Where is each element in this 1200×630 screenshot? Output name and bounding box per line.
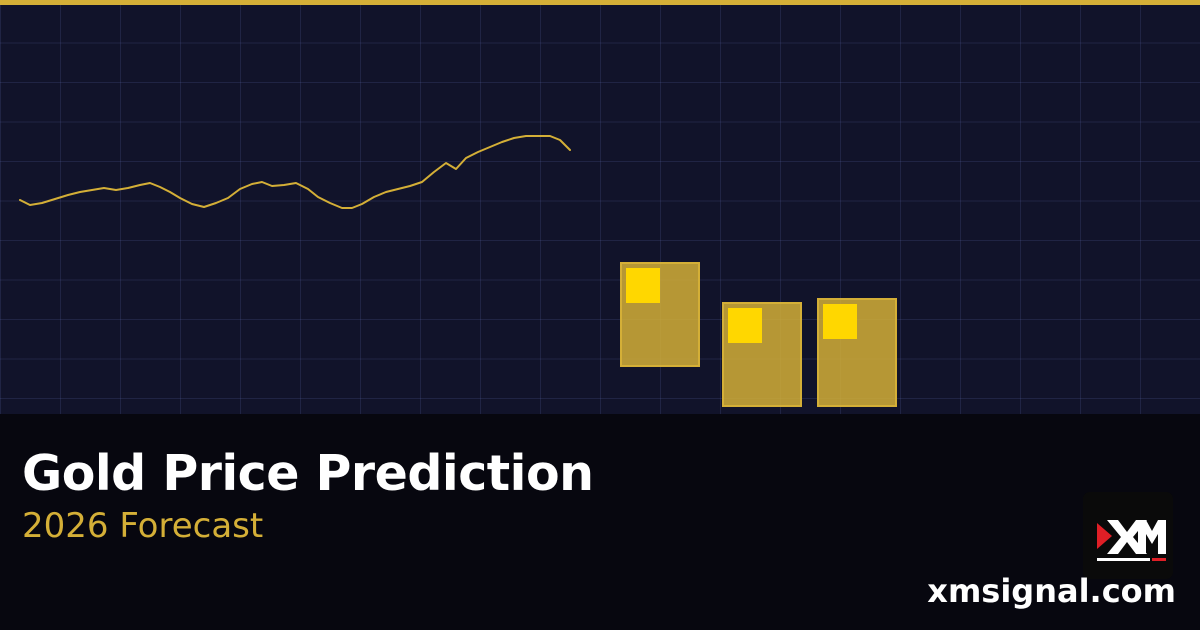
page-subtitle: 2026 Forecast <box>22 506 263 546</box>
forecast-bar-1-highlight <box>626 268 660 303</box>
forecast-bar-2-highlight <box>728 308 762 343</box>
caption-panel: Gold Price Prediction 2026 Forecast xmsi… <box>0 414 1200 630</box>
brand-domain: xmsignal.com <box>927 572 1176 610</box>
logo-underline <box>1097 558 1150 561</box>
social-preview-card: Gold Price Prediction 2026 Forecast xmsi… <box>0 0 1200 630</box>
xm-logo <box>1083 492 1173 579</box>
page-title: Gold Price Prediction <box>22 445 594 502</box>
forecast-bar-3 <box>817 298 897 407</box>
forecast-bar-1 <box>620 262 700 367</box>
chart-panel <box>0 5 1200 414</box>
price-line-chart <box>0 5 1200 414</box>
price-line-series <box>20 136 570 208</box>
forecast-bar-3-highlight <box>823 304 857 339</box>
forecast-bar-2 <box>722 302 802 407</box>
logo-underline-accent <box>1152 558 1166 561</box>
